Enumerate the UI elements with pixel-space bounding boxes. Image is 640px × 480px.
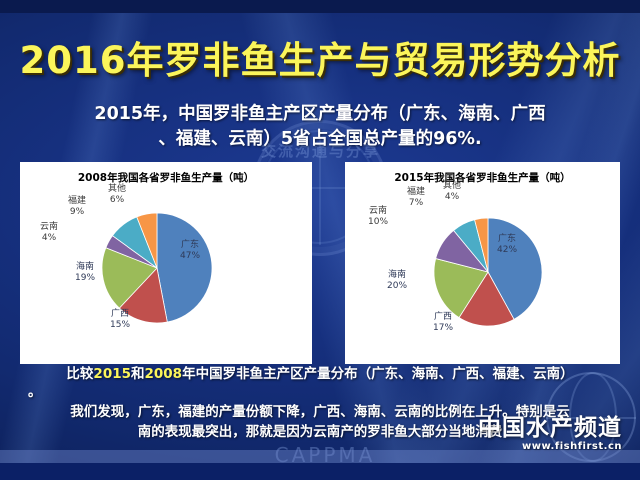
slide-canvas: 交流沟通与分享 2016年罗非鱼生产与贸易形势分析 2015年，中国罗非鱼主产区… bbox=[0, 0, 640, 480]
pie-label-fujian-2015: 福建 7% bbox=[407, 187, 425, 209]
pie-label-guangxi-2015: 广西 17% bbox=[433, 312, 453, 334]
subtitle-line-1: 2015年，中国罗非鱼主产区产量分布（广东、海南、广西 bbox=[28, 102, 612, 127]
pie-label-hainan-2015: 海南 20% bbox=[387, 270, 407, 292]
pie-label-other-2015: 其他 4% bbox=[443, 181, 461, 203]
chart-panel-2015: 2015年我国各省罗非鱼生产量（吨） 其他 4% 福建 7% 云南 10% 广东… bbox=[345, 162, 620, 364]
bottom-text-line-2: 。 bbox=[0, 384, 640, 401]
bottom-text-block: 比较2015和2008年中国罗非鱼主产区产量分布（广东、海南、广西、福建、云南）… bbox=[0, 358, 640, 462]
page-title: 2016年罗非鱼生产与贸易形势分析 bbox=[0, 30, 640, 84]
pie-label-guangxi-2008: 广西 15% bbox=[110, 309, 130, 331]
pie-slices-2008 bbox=[102, 213, 212, 323]
pie-chart-2008: 其他 6% 福建 9% 云南 4% 广东 47% 广西 15% 海南 bbox=[20, 162, 312, 364]
chart-panel-2008: 2008年我国各省罗非鱼生产量（吨） 其他 6% 福建 9% 云南 4% 广东 … bbox=[20, 162, 312, 364]
bottom-text-line-1: 比较2015和2008年中国罗非鱼主产区产量分布（广东、海南、广西、福建、云南） bbox=[0, 366, 640, 383]
pie-label-yunnan-2008: 云南 4% bbox=[40, 222, 58, 244]
pie-slices-2015 bbox=[434, 218, 542, 326]
pie-slice-广东 bbox=[157, 213, 212, 322]
pie-label-other-2008: 其他 6% bbox=[108, 184, 126, 206]
bottom-light-band bbox=[0, 450, 640, 463]
pie-label-guangdong-2015: 广东 42% bbox=[497, 234, 517, 256]
pie-label-guangdong-2008: 广东 47% bbox=[180, 240, 200, 262]
subtitle: 2015年，中国罗非鱼主产区产量分布（广东、海南、广西 、福建、云南）5省占全国… bbox=[28, 102, 612, 152]
pie-label-yunnan-2015: 云南 10% bbox=[368, 206, 388, 228]
bottom-text-line-4: 南的表现最突出，那就是因为云南产的罗非鱼大部分当地消费 bbox=[0, 424, 640, 441]
bottom-text-line-3: 我们发现，广东，福建的产量份额下降，广西、海南、云南的比例在上升。特别是云 bbox=[0, 404, 640, 421]
pie-label-fujian-2008: 福建 9% bbox=[68, 196, 86, 218]
top-border-band bbox=[0, 0, 640, 13]
subtitle-line-2: 、福建、云南）5省占全国总产量的96%. bbox=[28, 127, 612, 152]
pie-chart-2015: 其他 4% 福建 7% 云南 10% 广东 42% 广西 17% 海南 20% bbox=[345, 162, 620, 364]
bottom-border-band bbox=[0, 463, 640, 480]
pie-label-hainan-2008: 海南 19% bbox=[75, 262, 95, 284]
pie-svg-2008 bbox=[20, 162, 312, 364]
pie-svg-2015 bbox=[345, 162, 620, 364]
